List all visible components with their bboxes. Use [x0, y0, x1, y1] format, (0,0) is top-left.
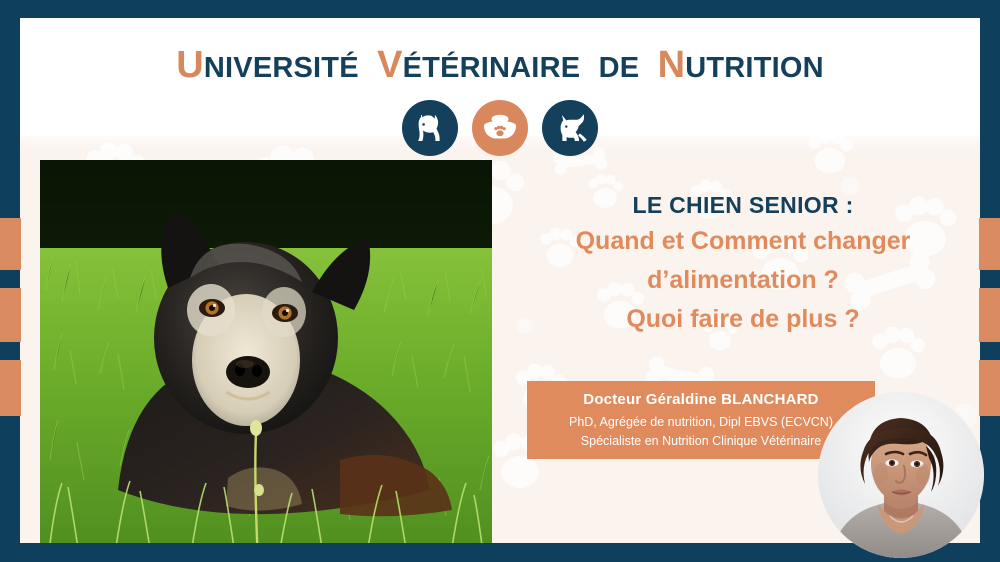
right-decorative-bars [979, 0, 1000, 562]
senior-dog-photo [40, 160, 492, 543]
decor-bar [0, 288, 21, 342]
headline-line-4: Quoi faire de plus ? [506, 300, 980, 339]
logo-group [20, 100, 980, 156]
decor-bar [0, 360, 21, 416]
title-word-nutrition: UTRITION [685, 52, 824, 84]
decor-bar [979, 218, 1000, 270]
speaker-credentials: PhD, Agrégée de nutrition, Dipl EBVS (EC… [527, 413, 875, 432]
left-decorative-bars [0, 0, 21, 562]
speaker-name: Docteur Géraldine BLANCHARD [527, 387, 875, 413]
presentation-slide: UNIVERSITÉ VÉTÉRINAIRE DE NUTRITION [0, 0, 1000, 562]
decor-bar [979, 288, 1000, 342]
decor-bar [0, 218, 21, 270]
headline-line-1: LE CHIEN SENIOR : [506, 188, 980, 222]
headline-line-2: Quand et Comment changer [506, 222, 980, 261]
title-initial-n: N [658, 44, 686, 86]
speaker-avatar [818, 392, 984, 558]
food-bowl-logo-icon [472, 100, 528, 156]
title-word-universite: NIVERSITÉ [204, 52, 359, 84]
title-initial-u: U [176, 44, 204, 86]
headline-line-3: d’alimentation ? [506, 261, 980, 300]
headline-block: LE CHIEN SENIOR : Quand et Comment chang… [506, 188, 980, 339]
dog-logo-icon [402, 100, 458, 156]
title-initial-v: V [377, 44, 403, 86]
cat-logo-icon [542, 100, 598, 156]
brand-title: UNIVERSITÉ VÉTÉRINAIRE DE NUTRITION [40, 44, 960, 87]
decor-bar [979, 360, 1000, 416]
title-word-de: DE [599, 52, 640, 84]
title-word-veterinaire: ÉTÉRINAIRE [403, 52, 581, 84]
